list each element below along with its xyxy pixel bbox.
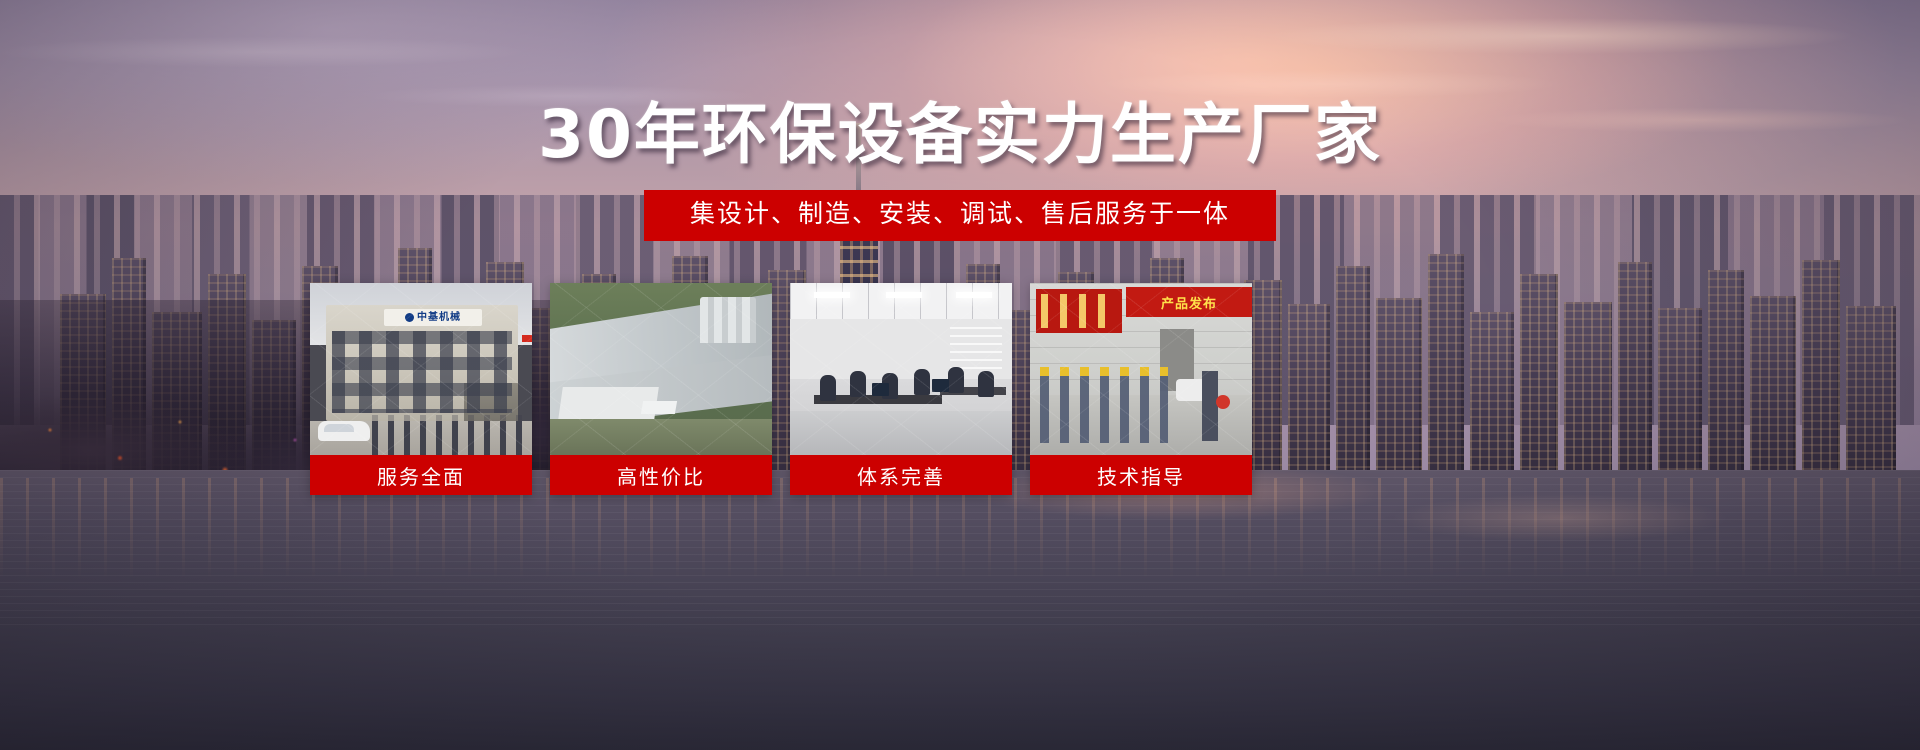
workshop-banner	[1126, 287, 1252, 317]
subtitle-badge: 集设计、制造、安装、调试、售后服务于一体	[644, 190, 1276, 241]
silo-shape	[700, 297, 756, 343]
page-title: 30年环保设备实力生产厂家	[0, 102, 1920, 168]
flag-icon	[522, 335, 532, 342]
building-sign-text: 中基机械	[417, 313, 461, 323]
card-photo-aerial-plant	[550, 283, 772, 455]
car-shape	[318, 421, 370, 441]
feature-card[interactable]: 中基机械 服务全面	[310, 283, 532, 495]
hardhat-row	[1040, 367, 1168, 376]
card-photo-company-building: 中基机械	[310, 283, 532, 455]
building-sign: 中基机械	[384, 309, 482, 326]
supervisor-shape	[1202, 371, 1218, 441]
banner-content: 30年环保设备实力生产厂家 集设计、制造、安装、调试、售后服务于一体 中基机械	[0, 0, 1920, 750]
staff-row	[372, 415, 524, 455]
subtitle-container: 集设计、制造、安装、调试、售后服务于一体	[0, 190, 1920, 241]
feature-card-list: 中基机械 服务全面	[310, 283, 1610, 495]
feature-card[interactable]: 高性价比	[550, 283, 772, 495]
card-label[interactable]: 高性价比	[550, 455, 772, 495]
hero-banner: 30年环保设备实力生产厂家 集设计、制造、安装、调试、售后服务于一体 中基机械	[0, 0, 1920, 750]
card-label[interactable]: 服务全面	[310, 455, 532, 495]
feature-card[interactable]: 技术指导	[1030, 283, 1252, 495]
feature-card[interactable]: 体系完善	[790, 283, 1012, 495]
card-label[interactable]: 技术指导	[1030, 455, 1252, 495]
company-logo-icon	[405, 313, 414, 322]
card-label[interactable]: 体系完善	[790, 455, 1012, 495]
worker-row	[1040, 367, 1168, 443]
red-object	[1216, 395, 1230, 409]
card-photo-office-interior	[790, 283, 1012, 455]
truck-shape	[641, 401, 677, 414]
card-photo-workshop	[1030, 283, 1252, 455]
